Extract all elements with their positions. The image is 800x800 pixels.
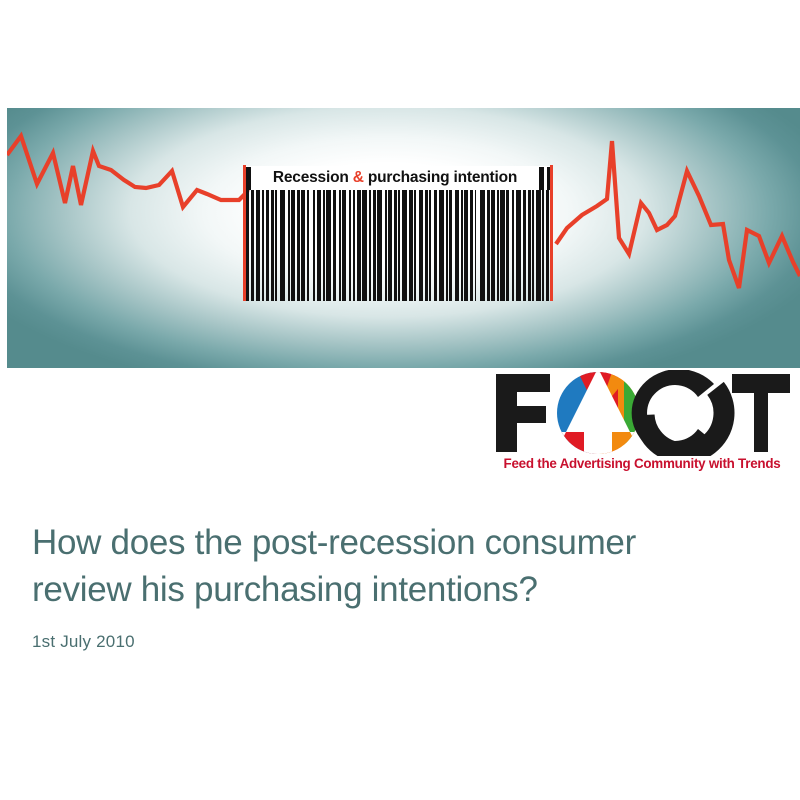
barcode-guard-bar-right	[539, 167, 544, 190]
barcode-guard-bar-right-thin	[547, 167, 550, 190]
fact-logo-tagline: Feed the Advertising Community with Tren…	[492, 456, 792, 471]
barcode-title-text: Recession & purchasing intention	[254, 170, 536, 186]
slide-date: 1st July 2010	[32, 632, 762, 652]
fact-logo-letter-f	[496, 374, 550, 452]
page-title-line-2: review his purchasing intentions?	[32, 570, 538, 609]
barcode-bars	[246, 190, 550, 301]
trend-line-left	[7, 136, 252, 207]
fact-logo-wordmark	[492, 370, 792, 456]
page-title-line-1: How does the post-recession consumer	[32, 523, 636, 562]
trend-line-right	[556, 141, 800, 288]
fact-logo-letter-a-mark	[552, 370, 644, 456]
barcode-graphic: Recession & purchasing intention	[238, 165, 558, 301]
barcode-title-ampersand: &	[353, 169, 364, 186]
barcode-label: Recession & purchasing intention	[246, 166, 550, 190]
barcode-title-prefix: Recession	[273, 169, 353, 186]
barcode-title-suffix: purchasing intention	[364, 169, 517, 186]
barcode-guard-bar-left	[246, 167, 251, 190]
fact-logo: Feed the Advertising Community with Tren…	[492, 370, 792, 482]
fact-logo-letter-t	[732, 374, 790, 452]
title-block: How does the post-recession consumerrevi…	[32, 520, 762, 652]
page-title: How does the post-recession consumerrevi…	[32, 520, 762, 614]
barcode-right-edge-bar	[550, 165, 553, 301]
barcode-bar	[546, 190, 549, 301]
barcode-inner: Recession & purchasing intention	[246, 165, 550, 301]
slide-canvas: Recession & purchasing intention	[0, 0, 800, 800]
